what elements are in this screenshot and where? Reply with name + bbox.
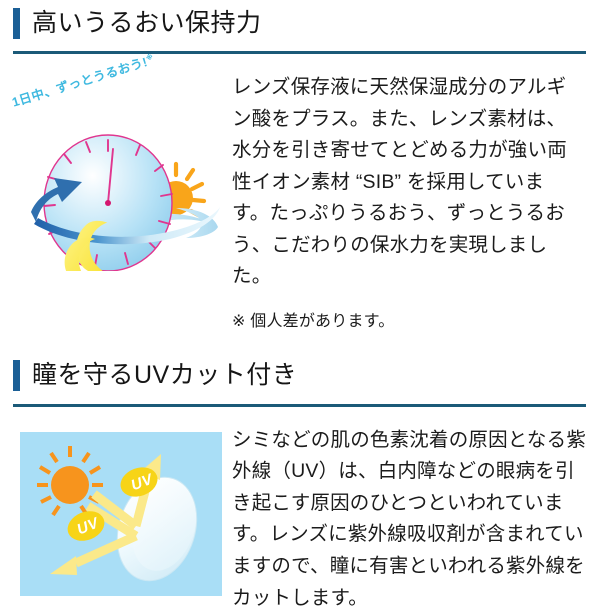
section-moisture: 高いうるおい保持力 — [0, 0, 600, 335]
heading-accent-bar — [13, 8, 20, 39]
text-cell-moisture: レンズ保存液に天然保湿成分のアルギン酸をプラス。また、レンズ素材は、水分を引き寄… — [232, 66, 586, 335]
uv-cut-svg — [20, 432, 222, 596]
note-text-moisture: ※ 個人差があります。 — [232, 309, 580, 335]
body-text-moisture: レンズ保存液に天然保湿成分のアルギン酸をプラス。また、レンズ素材は、水分を引き寄… — [232, 72, 580, 293]
product-feature-page: 高いうるおい保持力 — [0, 0, 600, 600]
clock-globe-illustration: 1日中、ずっとうるおう!※ — [0, 66, 232, 271]
section-title-uv: 瞳を守るUVカット付き — [32, 363, 297, 388]
content-row-moisture: 1日中、ずっとうるおう!※ レンズ保存液に天然保湿成分のアルギン酸をプラス。また… — [0, 54, 600, 335]
figure-cell-uv: UV UV — [0, 419, 232, 599]
section-heading-moisture: 高いうるおい保持力 — [0, 0, 600, 46]
content-row-uv: UV UV シミなどの肌の色素沈着の原因となる紫外線（UV）は、白内障などの眼病… — [0, 407, 600, 614]
uv-arrowhead-down — [50, 556, 77, 575]
heading-accent-bar — [13, 360, 20, 391]
uv-cut-illustration: UV UV — [20, 432, 222, 596]
catch-copy-mark: ※ — [145, 54, 154, 63]
figure-cell-moisture: 1日中、ずっとうるおう!※ — [0, 66, 232, 271]
section-heading-uv: 瞳を守るUVカット付き — [0, 353, 600, 399]
clock-face — [44, 135, 172, 271]
body-text-uv: シミなどの肌の色素沈着の原因となる紫外線（UV）は、白内障などの眼病を引き起こす… — [232, 425, 586, 614]
page-title: 高いうるおい保持力 — [32, 11, 262, 36]
text-cell-uv: シミなどの肌の色素沈着の原因となる紫外線（UV）は、白内障などの眼病を引き起こす… — [232, 419, 586, 614]
section-uv: 瞳を守るUVカット付き — [0, 353, 600, 614]
